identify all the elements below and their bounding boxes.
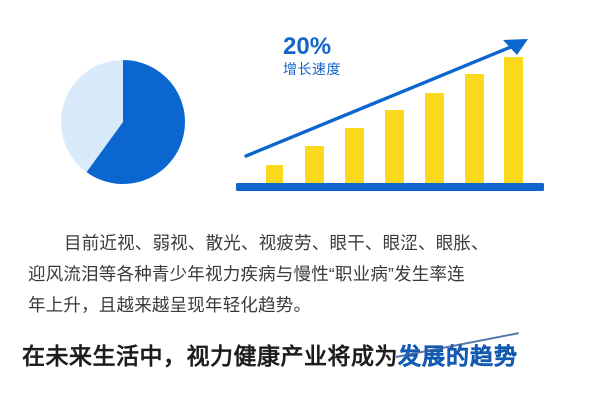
- bar-6: [465, 74, 484, 183]
- paragraph-line-2: 迎风流泪等各种青少年视力疾病与慢性“职业病”发生率连: [28, 259, 576, 290]
- paragraph-line-1: 目前近视、弱视、散光、视疲劳、眼干、眼涩、眼胀、: [28, 228, 576, 259]
- growth-callout: 20% 增长速度: [283, 34, 341, 77]
- infographic-band: 60% 20: [0, 0, 600, 215]
- pie-chart: 60%: [58, 57, 188, 187]
- growth-caption: 增长速度: [283, 62, 341, 77]
- bar-7: [504, 57, 523, 183]
- headline-prefix: 在未来生活中，视力健康产业将成为: [22, 343, 398, 369]
- pie-value-label: 60%: [128, 182, 208, 206]
- paragraph-line-3: 年上升，且越来越呈现年轻化趋势。: [28, 290, 576, 321]
- headline-accent-text: 发展的趋势: [398, 343, 518, 369]
- body-paragraph: 目前近视、弱视、散光、视疲劳、眼干、眼涩、眼胀、 迎风流泪等各种青少年视力疾病与…: [28, 228, 576, 321]
- bar-3: [345, 128, 364, 183]
- bar-4: [385, 110, 404, 183]
- pie-chart-svg: [58, 57, 188, 187]
- bar-5: [425, 93, 444, 183]
- bar-chart-svg: [232, 22, 562, 202]
- bar-chart: [232, 22, 562, 202]
- bar-1: [266, 165, 283, 183]
- growth-percent: 20%: [283, 34, 341, 59]
- headline: 在未来生活中，视力健康产业将成为发展的趋势: [22, 339, 582, 373]
- bar-2: [305, 146, 324, 183]
- headline-accent: 发展的趋势: [398, 339, 518, 373]
- infographic-page: 60% 20: [0, 0, 600, 400]
- chart-baseline: [236, 183, 544, 191]
